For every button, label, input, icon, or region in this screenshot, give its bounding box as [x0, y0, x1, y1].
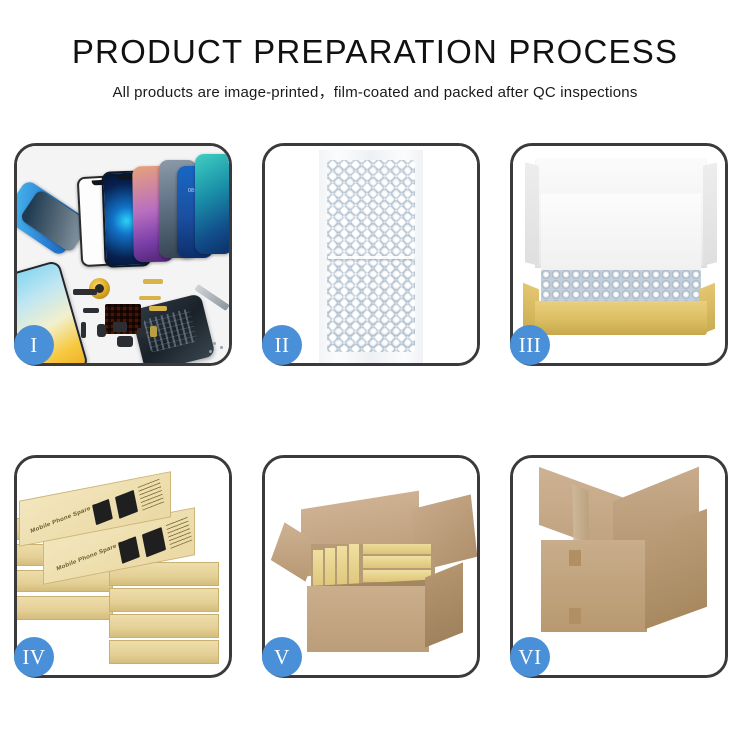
step-image-3 — [513, 146, 725, 363]
carton-tab-icon — [569, 608, 581, 624]
screen-print-icon — [115, 490, 138, 519]
step-badge-2: II — [262, 325, 302, 365]
foam-sheet-icon — [541, 194, 701, 272]
step-image-4: Mobile Phone Spare Parts Mobile Phone Sp… — [17, 458, 229, 675]
box-edge — [109, 588, 219, 612]
yellow-box-icon — [363, 544, 431, 554]
box-edge — [109, 614, 219, 638]
step-badge-6: VI — [510, 637, 550, 677]
flex-cable-icon — [139, 296, 161, 300]
carton-front-face-icon — [307, 586, 429, 652]
flex-cable-icon — [143, 279, 163, 284]
step-badge-5: V — [262, 637, 302, 677]
camera-module-icon — [113, 322, 127, 332]
step-badge-1: I — [14, 325, 54, 365]
bubble-wrapped-item-icon — [541, 270, 701, 304]
teal-swirl-phone-icon — [195, 154, 229, 254]
yellow-box-icon — [313, 550, 323, 590]
kraft-box-front-icon — [535, 301, 707, 335]
vibrator-icon — [137, 328, 146, 337]
screw-icon — [213, 342, 216, 345]
screw-icon — [209, 350, 212, 353]
step-badge-4: IV — [14, 637, 54, 677]
connector-icon — [81, 322, 86, 338]
step-image-6 — [513, 458, 725, 675]
product-preparation-infographic: PRODUCT PREPARATION PROCESS All products… — [0, 0, 750, 750]
step-image-2 — [265, 146, 477, 363]
yellow-box-icon — [363, 556, 431, 568]
screen-print-icon — [92, 499, 113, 525]
spec-lines-icon — [166, 516, 193, 549]
screen-print-icon — [142, 527, 166, 557]
step-panel-2: II — [262, 143, 480, 366]
page-title: PRODUCT PREPARATION PROCESS — [0, 33, 750, 71]
step-panel-4: Mobile Phone Spare Parts Mobile Phone Sp… — [14, 455, 232, 678]
sim-tray-icon — [150, 326, 157, 337]
box-stack: Mobile Phone Spare Parts Mobile Phone Sp… — [17, 458, 229, 675]
battery-part-icon — [97, 324, 106, 337]
spec-lines-icon — [138, 479, 164, 511]
notch-icon — [116, 175, 133, 181]
sleeve-seam-icon — [328, 256, 414, 259]
small-part-icon — [73, 289, 97, 295]
step-panel-6: VI — [510, 455, 728, 678]
step-panel-1: 08:08 — [14, 143, 232, 366]
step-image-1: 08:08 — [17, 146, 229, 363]
carton-tab-icon — [569, 550, 581, 566]
carton-side-face-icon — [645, 509, 707, 630]
connector-icon — [83, 308, 99, 313]
step-panel-3: III — [510, 143, 728, 366]
screw-icon — [220, 346, 223, 349]
step-badge-3: III — [510, 325, 550, 365]
flex-cable-icon — [149, 306, 167, 311]
step-panel-5: V — [262, 455, 480, 678]
page-subtitle: All products are image-printed，film-coat… — [0, 81, 750, 102]
speaker-module-icon — [117, 336, 133, 347]
carton-side-face-icon — [425, 562, 463, 647]
step-image-5 — [265, 458, 477, 675]
box-edge — [109, 640, 219, 664]
header: PRODUCT PREPARATION PROCESS All products… — [0, 0, 750, 102]
process-step-grid: 08:08 — [14, 143, 736, 678]
carton-front-face-icon — [541, 540, 647, 632]
box-edge — [17, 596, 113, 620]
